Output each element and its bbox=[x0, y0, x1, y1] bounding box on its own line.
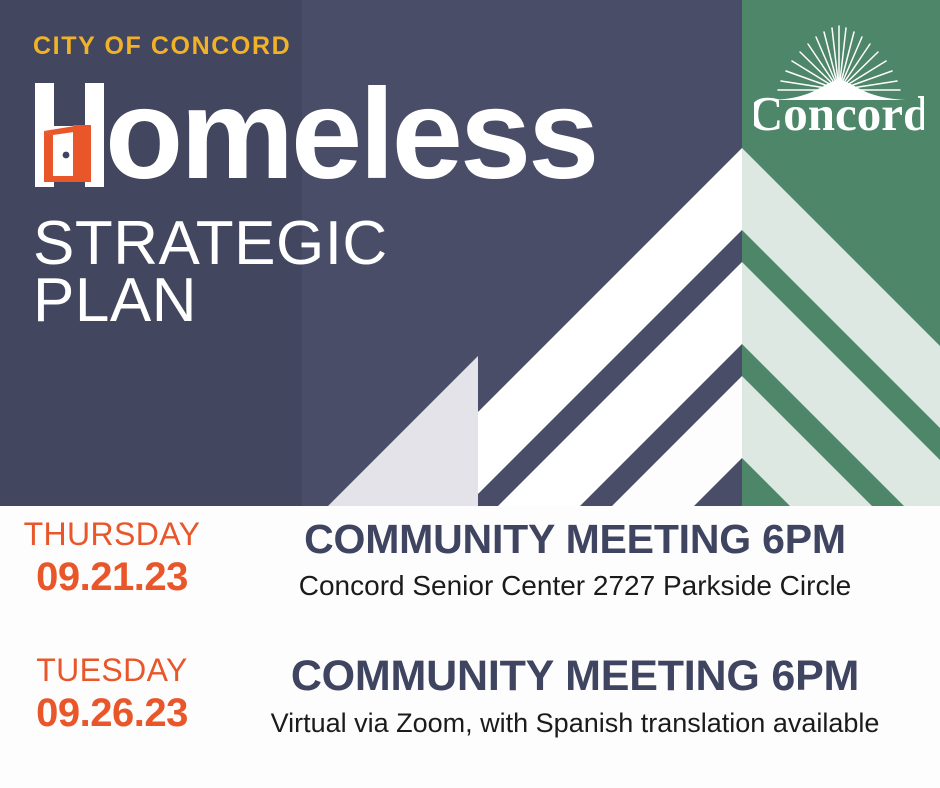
event-location: Virtual via Zoom, with Spanish translati… bbox=[224, 707, 926, 739]
event-headline: COMMUNITY MEETING 6PM bbox=[224, 654, 926, 699]
house-door-h-icon bbox=[33, 83, 107, 187]
homeless-strategic-plan-poster: CITY OF CONCORD bbox=[0, 0, 940, 788]
event-what: COMMUNITY MEETING 6PM Virtual via Zoom, … bbox=[224, 654, 940, 740]
event-when: THURSDAY 09.21.23 bbox=[0, 518, 224, 600]
hero-text-block: CITY OF CONCORD bbox=[33, 34, 596, 329]
event-headline: COMMUNITY MEETING 6PM bbox=[224, 518, 926, 561]
main-title-text: omeless bbox=[105, 84, 596, 186]
subtitle-line-2: PLAN bbox=[33, 272, 596, 329]
subtitle-line-1: STRATEGIC bbox=[33, 215, 596, 272]
event-list: THURSDAY 09.21.23 COMMUNITY MEETING 6PM … bbox=[0, 506, 940, 788]
event-when: TUESDAY 09.26.23 bbox=[0, 654, 224, 736]
subtitle: STRATEGIC PLAN bbox=[33, 215, 596, 329]
event-row: THURSDAY 09.21.23 COMMUNITY MEETING 6PM … bbox=[0, 518, 940, 603]
event-day: TUESDAY bbox=[0, 654, 224, 688]
event-row: TUESDAY 09.26.23 COMMUNITY MEETING 6PM V… bbox=[0, 654, 940, 740]
event-date: 09.21.23 bbox=[0, 554, 224, 600]
event-day: THURSDAY bbox=[0, 518, 224, 552]
concord-city-logo: Concord bbox=[754, 20, 924, 138]
eyebrow-city-of-concord: CITY OF CONCORD bbox=[33, 34, 596, 59]
event-date: 09.26.23 bbox=[0, 690, 224, 736]
main-title: omeless bbox=[33, 83, 596, 187]
concord-wordmark-text: Concord bbox=[754, 86, 924, 138]
hero-banner: CITY OF CONCORD bbox=[0, 0, 940, 506]
event-what: COMMUNITY MEETING 6PM Concord Senior Cen… bbox=[224, 518, 940, 603]
event-location: Concord Senior Center 2727 Parkside Circ… bbox=[224, 569, 926, 603]
